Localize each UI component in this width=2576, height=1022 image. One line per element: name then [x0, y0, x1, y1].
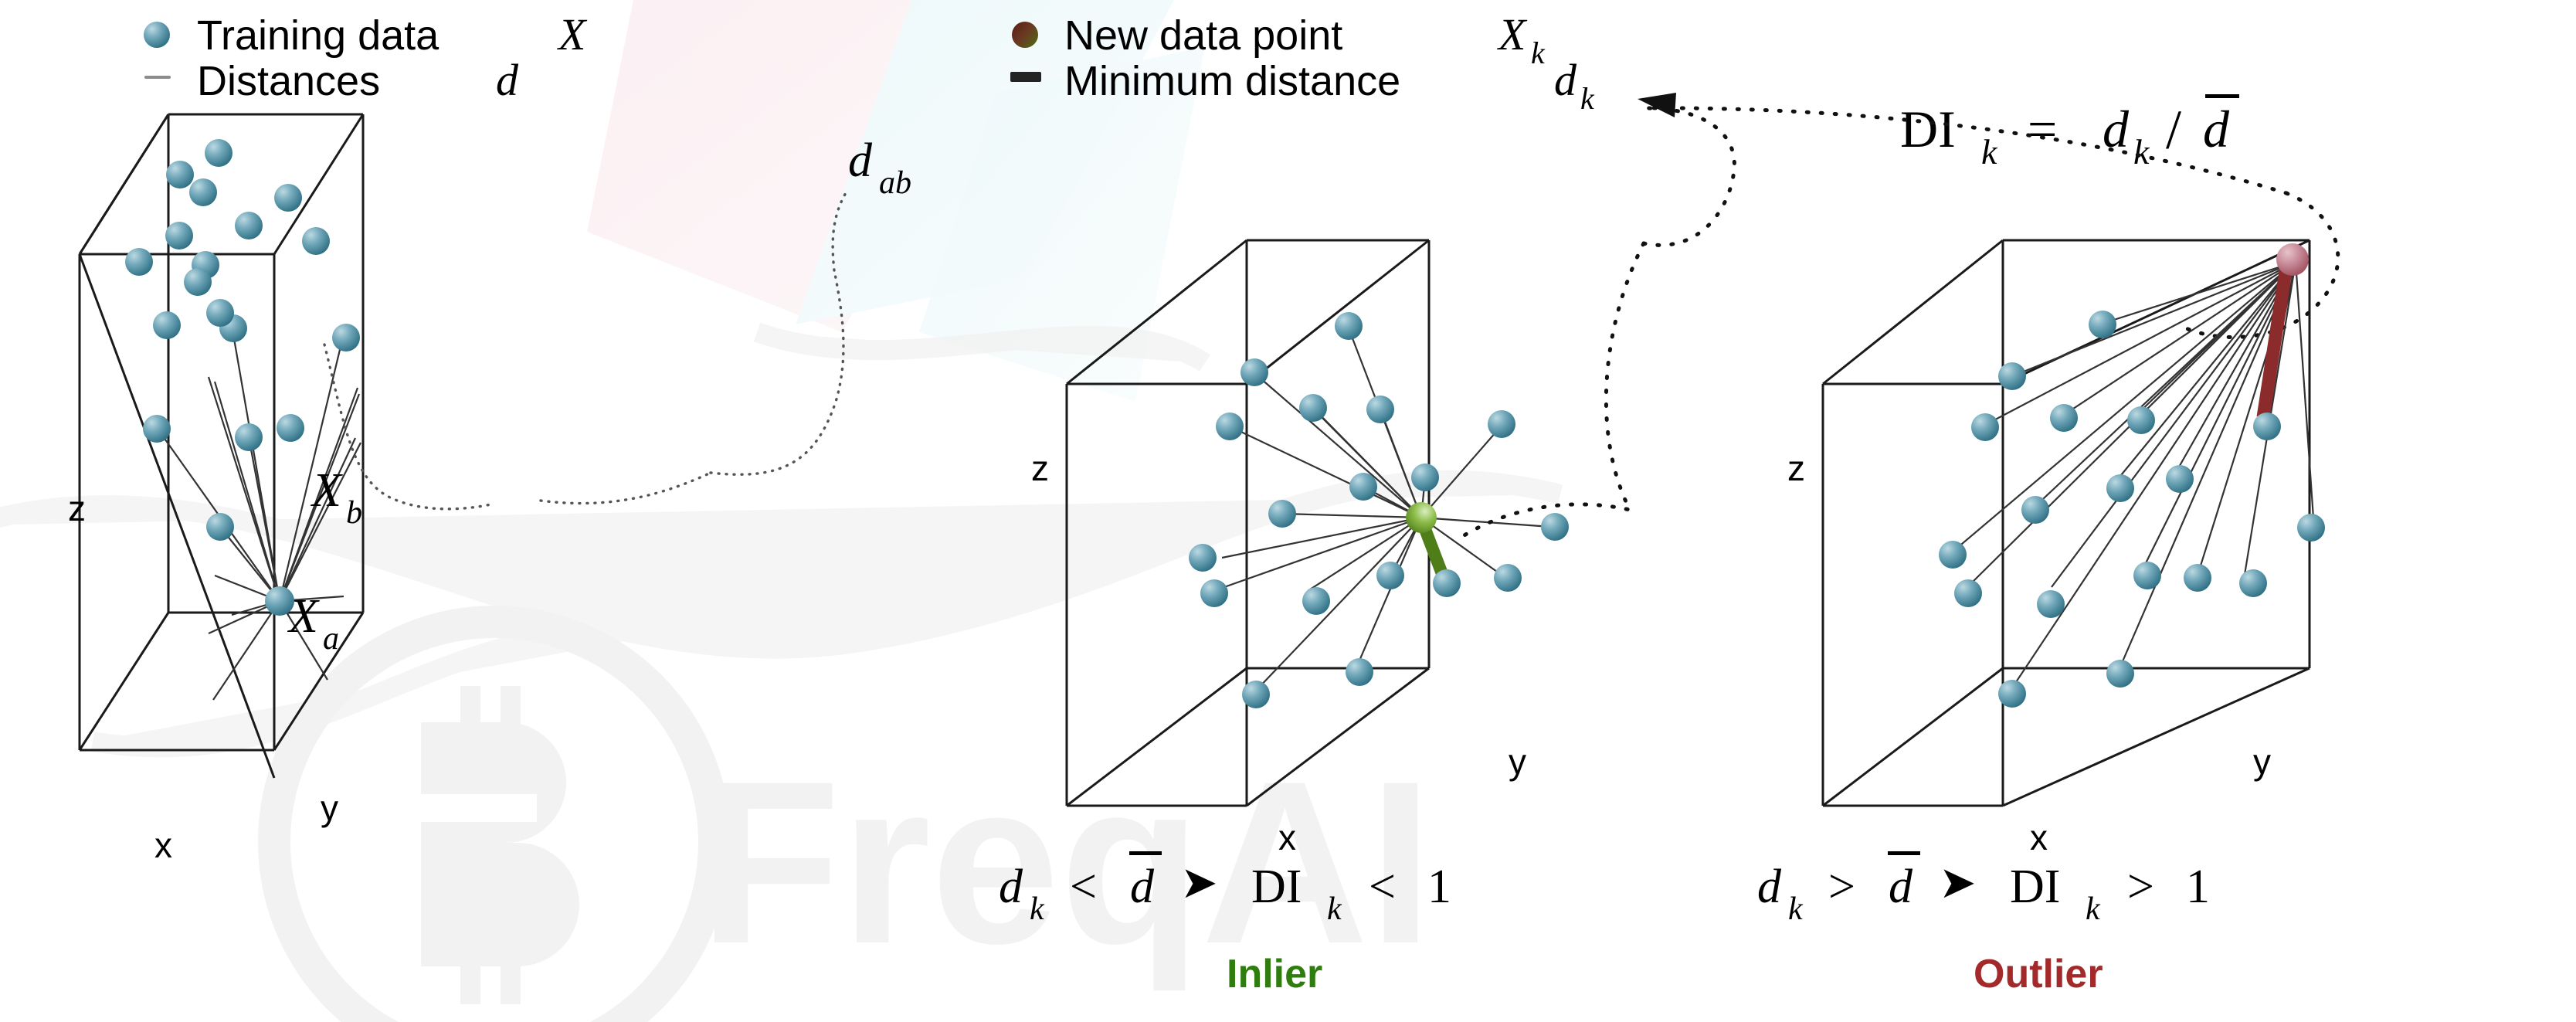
- axis-label-y-1: y: [321, 788, 338, 828]
- training-point: [1954, 579, 1982, 607]
- legend-label-min-distance: Minimum distance: [1064, 58, 1400, 104]
- distance-line-icon: [144, 76, 171, 79]
- training-point: [1335, 312, 1363, 340]
- training-point: [1971, 413, 1999, 441]
- training-point: [2037, 590, 2065, 618]
- distance-lines-3: [1952, 262, 2314, 691]
- training-point: [332, 324, 360, 351]
- formula-slash: /: [2166, 99, 2181, 161]
- training-point: [2166, 465, 2194, 493]
- training-point: [2133, 562, 2161, 589]
- formula-numerator-sub: k: [2133, 132, 2150, 171]
- outlier-dbar: d: [1889, 861, 1913, 913]
- training-point: [166, 161, 194, 188]
- axis-label-z-2: z: [1031, 448, 1049, 488]
- legend-item-training-data[interactable]: Training data X: [144, 9, 588, 59]
- training-point: [1268, 500, 1296, 528]
- training-point: [2297, 514, 2325, 542]
- d-ab-dotted-leader: [324, 345, 494, 509]
- legend-symbol-dk-base: d: [1554, 55, 1577, 105]
- training-point: [2106, 474, 2134, 502]
- training-point: [2021, 496, 2049, 524]
- training-point: [1488, 410, 1515, 438]
- training-point: [2184, 564, 2211, 592]
- axis-label-x-1: x: [154, 825, 172, 865]
- inlier-dbar: d: [1130, 861, 1155, 913]
- training-point: [1216, 413, 1244, 440]
- new-data-point-inlier: [1406, 502, 1437, 533]
- training-point: [1494, 564, 1522, 592]
- inlier-threshold: 1: [1427, 861, 1451, 913]
- training-point: [1242, 681, 1270, 708]
- formula-di-definition: DI k = d k / d: [1900, 94, 2239, 171]
- training-point: [235, 212, 263, 239]
- training-point: [184, 268, 212, 296]
- training-point: [1302, 587, 1330, 615]
- training-point: [1189, 544, 1217, 572]
- outlier-relation-2: >: [2127, 861, 2154, 913]
- training-point: [1939, 541, 1967, 569]
- d-ab-sub: ab: [879, 165, 911, 201]
- training-point: [1299, 394, 1327, 422]
- outlier-relation-1: >: [1828, 861, 1855, 913]
- training-point: [206, 513, 234, 541]
- training-point: [1200, 579, 1228, 607]
- inlier-dk-base: d: [999, 861, 1023, 913]
- training-point: [1541, 513, 1569, 541]
- inlier-relation-1: <: [1070, 861, 1097, 913]
- inlier-dbar-overbar: [1129, 851, 1162, 855]
- axis-label-y-2: y: [1509, 742, 1526, 782]
- legend-symbol-dk-sub: k: [1580, 81, 1595, 116]
- axis-label-z-1: z: [68, 488, 86, 528]
- axis-label-y-3: y: [2253, 742, 2271, 782]
- dk-connector: [1456, 93, 2338, 541]
- caption-word-inlier: Inlier: [1227, 952, 1322, 997]
- legend-label-new-point: New data point: [1064, 12, 1342, 59]
- svg-text:b: b: [346, 495, 362, 531]
- training-point: [205, 139, 232, 167]
- training-point: [165, 222, 193, 250]
- caption-outlier: d k > d ➤ DI k > 1 Outlier: [1757, 851, 2210, 997]
- formula-denominator: d: [2203, 100, 2230, 158]
- inlier-di-sub: k: [1327, 891, 1342, 927]
- formula-numerator: d: [2103, 100, 2130, 158]
- training-point: [2089, 311, 2116, 338]
- outlier-threshold: 1: [2186, 861, 2210, 913]
- new-data-point-outlier: [2276, 243, 2309, 276]
- svg-text:X: X: [287, 590, 320, 643]
- axis-label-z-3: z: [1787, 448, 1805, 488]
- label-Xa: X a: [287, 590, 339, 657]
- nearest-training-point: [1433, 569, 1461, 597]
- training-point: [1376, 562, 1404, 589]
- training-point: [2050, 404, 2078, 432]
- formula-lhs-sub: k: [1981, 132, 1998, 171]
- inlier-di-base: DI: [1251, 861, 1302, 913]
- training-point: [1998, 680, 2026, 708]
- panel-outlier: z y x: [1787, 240, 2325, 857]
- legend-symbol-X: X: [557, 9, 588, 59]
- denominator-overbar: [2205, 94, 2239, 98]
- nearest-training-point: [2253, 413, 2281, 440]
- legend-label-training: Training data: [197, 12, 440, 59]
- training-point-icon: [144, 22, 170, 48]
- outlier-dk-sub: k: [1788, 891, 1804, 927]
- dk-arrowhead: [1638, 93, 1676, 117]
- training-point: [1411, 463, 1439, 491]
- training-point: [2106, 660, 2134, 688]
- training-point: [125, 248, 153, 276]
- training-point: [206, 299, 234, 327]
- svg-text:a: a: [323, 621, 339, 657]
- axis-label-x-3: x: [2030, 817, 2048, 857]
- training-point: [189, 178, 217, 206]
- training-point: [1240, 358, 1268, 386]
- training-point: [235, 423, 263, 451]
- caption-word-outlier: Outlier: [1974, 952, 2103, 997]
- cube-wireframe-1: [80, 114, 363, 778]
- training-point: [2239, 569, 2267, 597]
- axis-label-x-2: x: [1278, 817, 1296, 857]
- training-point: [302, 227, 330, 255]
- outlier-dbar-overbar: [1888, 851, 1920, 855]
- training-point: [1349, 473, 1377, 501]
- formula-equals: =: [2028, 100, 2057, 158]
- minimum-distance-line-icon: [1010, 72, 1041, 82]
- training-point: [274, 184, 302, 212]
- outlier-di-sub: k: [2086, 891, 2101, 927]
- inlier-relation-2: <: [1369, 861, 1396, 913]
- training-point: [143, 415, 171, 443]
- legend-symbol-d: d: [496, 55, 519, 105]
- d-ab-base: d: [848, 134, 873, 187]
- inlier-arrow: ➤: [1180, 857, 1218, 908]
- formula-lhs: DI: [1900, 100, 1956, 158]
- legend-label-distances: Distances: [197, 58, 380, 104]
- cube-wireframe-3: [1823, 240, 2310, 806]
- outlier-dk-base: d: [1757, 861, 1782, 913]
- new-point-icon: [1012, 22, 1038, 48]
- dk-dotted-curve-left: [1644, 108, 2286, 245]
- inlier-dk-sub: k: [1030, 891, 1045, 927]
- d-ab-dotted-leader-3: [541, 473, 711, 504]
- figure-canvas: FreqAI Training data X Distances d: [0, 0, 2576, 1022]
- legend-symbol-Xk-base: X: [1497, 9, 1528, 59]
- training-point: [277, 414, 304, 442]
- training-point: [1366, 396, 1394, 423]
- svg-text:X: X: [310, 464, 343, 517]
- legend-item-distances[interactable]: Distances d: [144, 55, 519, 105]
- training-point: [2127, 406, 2155, 434]
- training-point: [1346, 658, 1373, 686]
- training-point: [1998, 362, 2026, 390]
- outlier-di-base: DI: [2010, 861, 2060, 913]
- outlier-arrow: ➤: [1939, 857, 1977, 908]
- training-point: [153, 311, 181, 339]
- legend-symbol-Xk-sub: k: [1531, 36, 1546, 70]
